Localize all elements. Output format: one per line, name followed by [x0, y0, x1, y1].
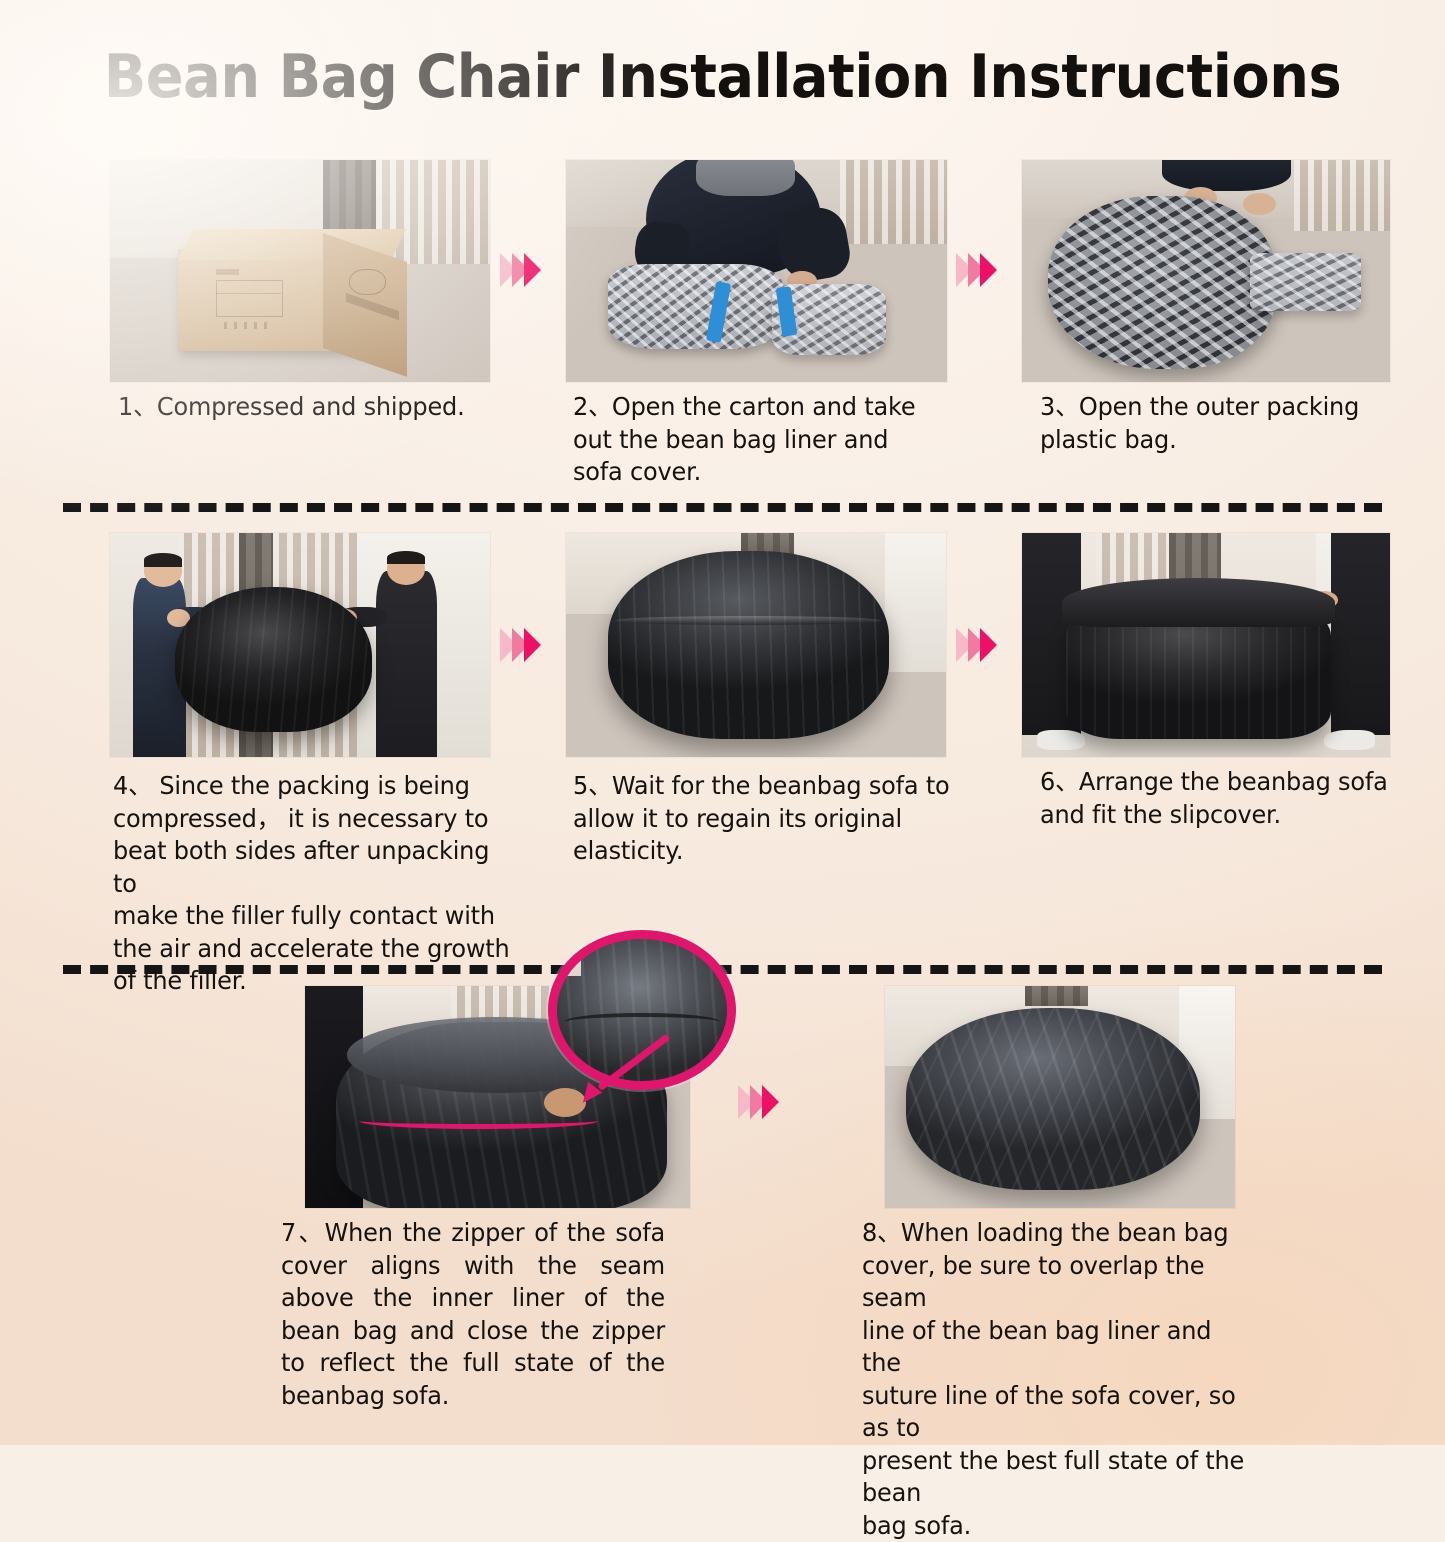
arrow-group-4: [956, 628, 992, 662]
step-6-caption: 6、Arrange the beanbag sofa and fit the s…: [1040, 766, 1405, 831]
zipper-callout-circle: [548, 930, 736, 1090]
step-7-caption: 7、When the zipper of the sofa cover alig…: [281, 1217, 665, 1412]
step-4-photo: [110, 533, 490, 757]
zipper-seam-highlight: [359, 1113, 598, 1129]
slipcover-flap: [1062, 578, 1334, 627]
chevron-arrow-icon: [762, 1085, 779, 1119]
infographic-page: Bean Bag Chair Installation Instructions: [0, 0, 1445, 1445]
step-3-photo: [1022, 160, 1390, 382]
arrow-group-3: [500, 628, 536, 662]
step-2-caption: 2、Open the carton and take out the bean …: [573, 391, 976, 489]
arrow-group-5: [738, 1085, 774, 1119]
step-6-photo: [1022, 533, 1390, 757]
chevron-arrow-icon: [980, 253, 997, 287]
callout-seam-line: [564, 1013, 720, 1031]
chevron-arrow-icon: [524, 253, 541, 287]
section-divider-1: [63, 503, 1382, 512]
liner-seam-line: [615, 616, 881, 625]
arrow-group-1: [500, 253, 536, 287]
step-3-caption: 3、Open the outer packing plastic bag.: [1040, 391, 1405, 456]
step-4-caption: 4、 Since the packing is being compressed…: [113, 770, 516, 998]
arrow-group-2: [956, 253, 992, 287]
step-1-caption: 1、Compressed and shipped.: [118, 391, 521, 424]
chevron-arrow-icon: [980, 628, 997, 662]
step-8-caption: 8、When loading the bean bag cover, be su…: [862, 1217, 1246, 1542]
step-8-photo: [885, 986, 1235, 1208]
step-2-photo: [566, 160, 947, 382]
step-5-photo: [566, 533, 946, 757]
step-1-photo: [110, 160, 490, 382]
step-5-caption: 5、Wait for the beanbag sofa to allow it …: [573, 770, 976, 868]
page-title: Bean Bag Chair Installation Instructions: [51, 42, 1395, 112]
chevron-arrow-icon: [524, 628, 541, 662]
